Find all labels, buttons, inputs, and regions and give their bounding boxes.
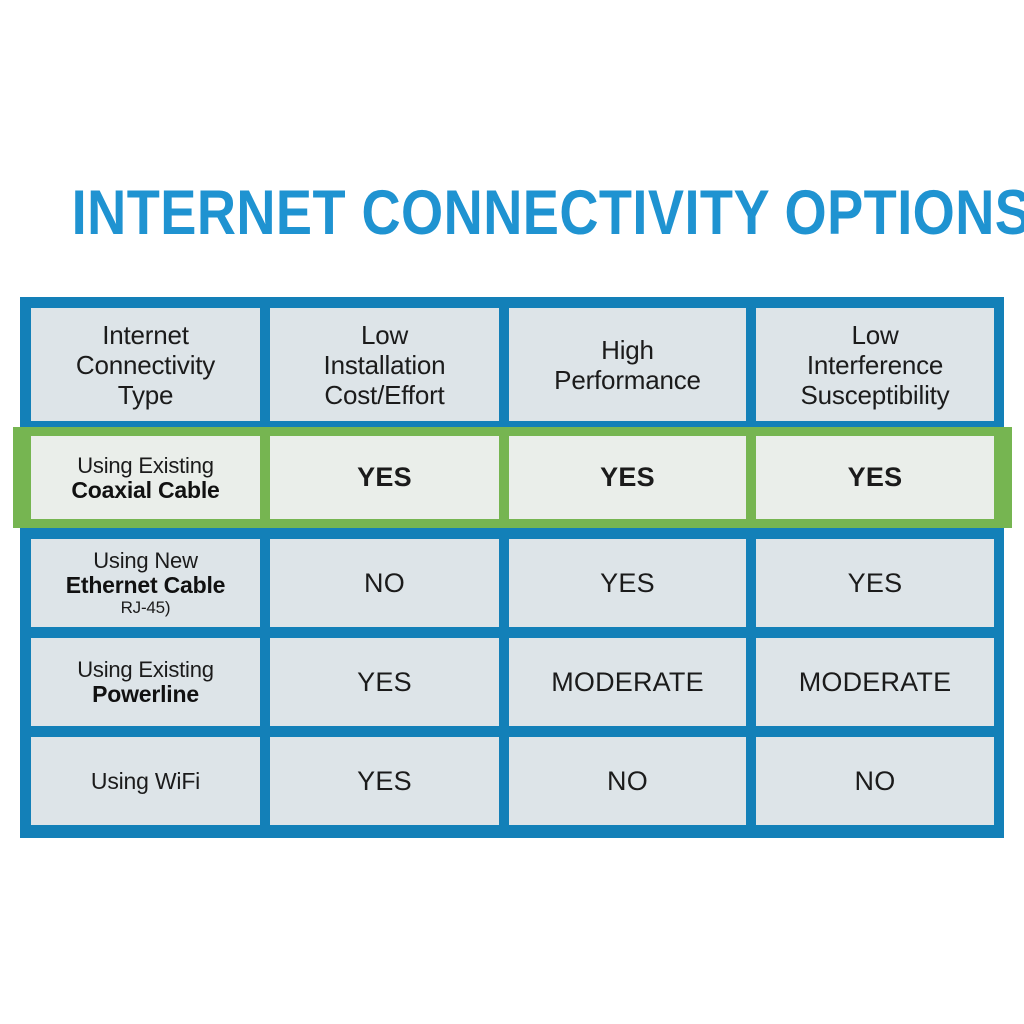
page-title: INTERNET CONNECTIVITY OPTIONS xyxy=(72,178,953,248)
table-row-ethernet: Using New Ethernet Cable RJ-45) NO YES Y… xyxy=(31,539,994,627)
row-label-ethernet: Using New Ethernet Cable RJ-45) xyxy=(31,539,260,627)
cell-value: NO xyxy=(855,766,896,797)
cell-ethernet-interference: YES xyxy=(756,539,994,627)
header-cell-high-performance: High Performance xyxy=(509,308,746,421)
row-label-powerline: Using Existing Powerline xyxy=(31,638,260,726)
cell-coaxial-interference: YES xyxy=(756,436,994,519)
header-line-1: Internet xyxy=(102,320,189,350)
table-row-wifi: Using WiFi YES NO NO xyxy=(31,737,994,825)
cell-value: MODERATE xyxy=(551,667,704,698)
page-root: INTERNET CONNECTIVITY OPTIONS Internet C… xyxy=(0,0,1024,1024)
row-label-line-2: Powerline xyxy=(77,682,214,707)
header-line-2: Connectivity xyxy=(76,350,215,380)
cell-value: NO xyxy=(364,568,405,599)
header-line-3: Susceptibility xyxy=(801,380,950,410)
row-label-line-2: Coaxial Cable xyxy=(71,478,219,503)
cell-wifi-install-cost: YES xyxy=(270,737,499,825)
header-cell-interference: Low Interference Susceptibility xyxy=(756,308,994,421)
cell-powerline-interference: MODERATE xyxy=(756,638,994,726)
row-label-line-1: Using WiFi xyxy=(91,769,200,794)
cell-wifi-performance: NO xyxy=(509,737,746,825)
cell-value: YES xyxy=(357,766,412,797)
row-label-line-3: RJ-45) xyxy=(66,598,226,618)
cell-ethernet-install-cost: NO xyxy=(270,539,499,627)
comparison-table: Internet Connectivity Type Low Installat… xyxy=(20,297,1004,838)
header-line-2: Installation xyxy=(324,350,446,380)
header-line-3: Type xyxy=(118,380,174,410)
header-line-3: Cost/Effort xyxy=(324,380,444,410)
cell-ethernet-performance: YES xyxy=(509,539,746,627)
cell-value: YES xyxy=(848,568,903,599)
cell-value: YES xyxy=(600,568,655,599)
header-cell-connectivity-type: Internet Connectivity Type xyxy=(31,308,260,421)
table-header-row: Internet Connectivity Type Low Installat… xyxy=(31,308,994,421)
header-line-1: Low xyxy=(851,320,898,350)
header-line-2: Interference xyxy=(807,350,943,380)
row-label-line-1: Using Existing xyxy=(71,453,219,478)
header-cell-install-cost: Low Installation Cost/Effort xyxy=(270,308,499,421)
header-line-1: High xyxy=(601,335,654,365)
cell-powerline-install-cost: YES xyxy=(270,638,499,726)
cell-value: NO xyxy=(607,766,648,797)
row-label-line-1: Using New xyxy=(66,548,226,573)
cell-value: YES xyxy=(357,667,412,698)
row-label-line-1: Using Existing xyxy=(77,657,214,682)
cell-value: YES xyxy=(600,462,655,493)
cell-powerline-performance: MODERATE xyxy=(509,638,746,726)
row-label-line-2: Ethernet Cable xyxy=(66,573,226,598)
row-label-wifi: Using WiFi xyxy=(31,737,260,825)
cell-value: YES xyxy=(357,462,412,493)
row-label-coaxial: Using Existing Coaxial Cable xyxy=(31,436,260,519)
cell-wifi-interference: NO xyxy=(756,737,994,825)
cell-coaxial-install-cost: YES xyxy=(270,436,499,519)
cell-value: YES xyxy=(848,462,903,493)
table-row-powerline: Using Existing Powerline YES MODERATE MO… xyxy=(31,638,994,726)
cell-coaxial-performance: YES xyxy=(509,436,746,519)
table-row-coaxial: Using Existing Coaxial Cable YES YES YES xyxy=(13,427,1012,528)
header-line-2: Performance xyxy=(554,365,701,395)
cell-value: MODERATE xyxy=(799,667,952,698)
header-line-1: Low xyxy=(361,320,408,350)
